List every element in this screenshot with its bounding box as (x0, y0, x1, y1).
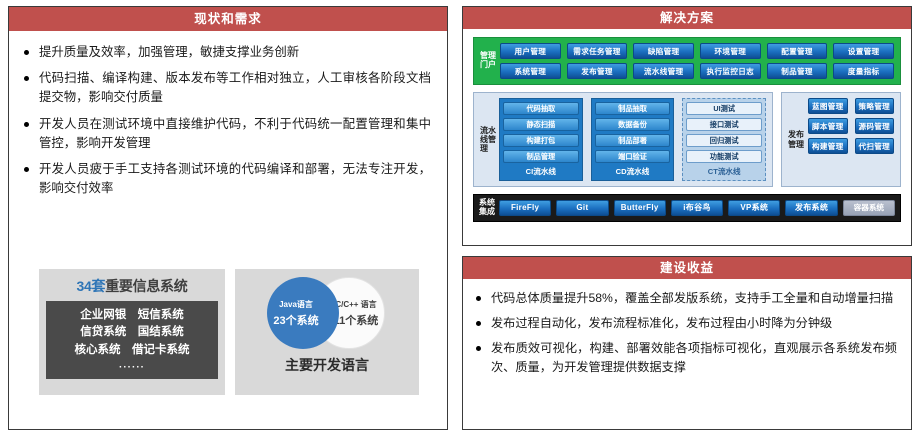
venn-java-value: 23个系统 (273, 312, 318, 328)
list-item: 发布过程自动化，发布流程标准化，发布过程由小时降为分钟级 (475, 314, 897, 333)
pipeline-column-caption: CI流水线 (503, 166, 579, 177)
integration-button[interactable]: VP系统 (728, 200, 780, 216)
pipeline-step[interactable]: 构建打包 (503, 134, 579, 147)
language-venn-card: Java语言 23个系统 C/C++ 语言 11个系统 主要开发语言 (235, 269, 419, 395)
panel-solution-title: 解决方案 (463, 7, 911, 29)
portal-button[interactable]: 执行监控日志 (700, 63, 761, 79)
current-bullet-list: 提升质量及效率，加强管理，敏捷支撑业务创新 代码扫描、编译构建、版本发布等工作相… (9, 31, 447, 199)
systems-card: 34套重要信息系统 企业网银 短信系统 信贷系统 国结系统 核心系统 借记卡系统… (39, 269, 225, 395)
release-management-buttons: 蓝图管理 策略管理 脚本管理 源码管理 构建管理 代扫管理 (808, 98, 894, 181)
release-management-label: 发布管理 (788, 98, 804, 181)
portal-button[interactable]: 度量指标 (833, 63, 894, 79)
pipeline-step[interactable]: 回归测试 (686, 134, 762, 147)
portal-button[interactable]: 配置管理 (767, 43, 828, 59)
system-integration-label: 系统集成 (479, 199, 495, 217)
release-button[interactable]: 蓝图管理 (808, 98, 848, 114)
pipeline-column-ci: 代码抽取 静态扫描 构建打包 制品管理 CI流水线 (499, 98, 583, 181)
integration-button[interactable]: ButterFly (614, 200, 666, 216)
pipeline-management-label-text: 流水线管理 (480, 126, 496, 154)
panel-current-and-needs: 现状和需求 提升质量及效率，加强管理，敏捷支撑业务创新 代码扫描、编译构建、版本… (8, 6, 448, 430)
pipeline-step[interactable]: 代码抽取 (503, 102, 579, 115)
systems-title-rest: 重要信息系统 (105, 278, 187, 294)
portal-button[interactable]: 流水线管理 (633, 63, 694, 79)
pipeline-step[interactable]: UI测试 (686, 102, 762, 115)
system-integration-label-text: 系统集成 (479, 199, 495, 217)
list-item: 代码总体质量提升58%，覆盖全部发版系统，支持手工全量和自动增量扫描 (475, 289, 897, 308)
release-button[interactable]: 构建管理 (808, 138, 848, 154)
venn-diagram: Java语言 23个系统 C/C++ 语言 11个系统 (235, 269, 419, 355)
portal-button[interactable]: 发布管理 (567, 63, 628, 79)
release-management-label-text: 发布管理 (788, 130, 804, 148)
list-item: 开发人员在测试环境中直接维护代码，不利于代码统一配置管理和集中管控，影响开发管理 (23, 115, 431, 153)
benefit-bullet-list: 代码总体质量提升58%，覆盖全部发版系统，支持手工全量和自动增量扫描 发布过程自… (463, 279, 911, 377)
pipeline-step[interactable]: 制品抽取 (595, 102, 671, 115)
pipeline-step[interactable]: 制品部署 (595, 134, 671, 147)
list-item: 核心系统 借记卡系统 (48, 342, 216, 359)
systems-ellipsis: ······ (48, 360, 216, 375)
portal-button[interactable]: 环境管理 (700, 43, 761, 59)
pipeline-management-label: 流水线管理 (480, 98, 496, 181)
pipeline-step[interactable]: 数据备份 (595, 118, 671, 131)
system-integration-buttons: FireFly Git ButterFly i布谷鸟 VP系统 发布系统 容器系… (499, 200, 895, 216)
panel-benefits: 建设收益 代码总体质量提升58%，覆盖全部发版系统，支持手工全量和自动增量扫描 … (462, 256, 912, 430)
portal-button[interactable]: 设置管理 (833, 43, 894, 59)
release-button[interactable]: 代扫管理 (855, 138, 895, 154)
venn-caption: 主要开发语言 (235, 355, 419, 375)
venn-cpp-label: C/C++ 语言 (335, 299, 376, 310)
portal-button[interactable]: 制品管理 (767, 63, 828, 79)
release-management-box: 发布管理 蓝图管理 策略管理 脚本管理 源码管理 构建管理 代扫管理 (781, 92, 901, 187)
release-button[interactable]: 源码管理 (855, 118, 895, 134)
pipeline-management-box: 流水线管理 代码抽取 静态扫描 构建打包 制品管理 CI流水线 制品抽取 数据备… (473, 92, 773, 187)
integration-button-muted[interactable]: 容器系统 (843, 200, 895, 216)
system-integration-band: 系统集成 FireFly Git ButterFly i布谷鸟 VP系统 发布系… (473, 194, 901, 222)
list-item: 代码扫描、编译构建、版本发布等工作相对独立，人工审核各阶段文档提交物，影响交付质… (23, 69, 431, 107)
pipeline-columns: 代码抽取 静态扫描 构建打包 制品管理 CI流水线 制品抽取 数据备份 制品部署… (499, 98, 766, 181)
pipeline-column-cd: 制品抽取 数据备份 制品部署 端口验证 CD流水线 (591, 98, 675, 181)
venn-cpp-value: 11个系统 (334, 312, 379, 328)
portal-button[interactable]: 用户管理 (500, 43, 561, 59)
management-portal-buttons: 用户管理 需求任务管理 缺陷管理 环境管理 配置管理 设置管理 系统管理 发布管… (500, 43, 894, 79)
management-portal-band: 管理门户 用户管理 需求任务管理 缺陷管理 环境管理 配置管理 设置管理 系统管… (473, 37, 901, 85)
panel-solution: 解决方案 管理门户 用户管理 需求任务管理 缺陷管理 环境管理 配置管理 设置管… (462, 6, 912, 246)
list-item: 提升质量及效率，加强管理，敏捷支撑业务创新 (23, 43, 431, 62)
panel-benefits-title: 建设收益 (463, 257, 911, 279)
list-item: 企业网银 短信系统 (48, 307, 216, 324)
venn-circle-java: Java语言 23个系统 (267, 277, 339, 349)
management-portal-label: 管理门户 (480, 43, 496, 79)
list-item: 发布质效可视化，构建、部署效能各项指标可视化，直观展示各系统发布频次、质量，为开… (475, 339, 897, 377)
pipeline-step[interactable]: 静态扫描 (503, 118, 579, 131)
release-button[interactable]: 策略管理 (855, 98, 895, 114)
pipeline-column-caption: CT流水线 (686, 166, 762, 177)
integration-button[interactable]: FireFly (499, 200, 551, 216)
panel-current-title: 现状和需求 (9, 7, 447, 31)
management-portal-label-text: 管理门户 (480, 52, 496, 70)
pipeline-step[interactable]: 接口测试 (686, 118, 762, 131)
pipeline-column-ct: UI测试 接口测试 回归测试 功能测试 CT流水线 (682, 98, 766, 181)
list-item: 开发人员疲于手工支持各测试环境的代码编译和部署，无法专注开发，影响交付效率 (23, 160, 431, 198)
systems-card-title: 34套重要信息系统 (46, 276, 218, 296)
pipeline-step[interactable]: 功能测试 (686, 150, 762, 163)
solution-diagram: 管理门户 用户管理 需求任务管理 缺陷管理 环境管理 配置管理 设置管理 系统管… (463, 29, 911, 245)
release-button[interactable]: 脚本管理 (808, 118, 848, 134)
integration-button[interactable]: 发布系统 (785, 200, 837, 216)
pipeline-column-caption: CD流水线 (595, 166, 671, 177)
integration-button[interactable]: i布谷鸟 (671, 200, 723, 216)
portal-button[interactable]: 缺陷管理 (633, 43, 694, 59)
stats-graphic: 34套重要信息系统 企业网银 短信系统 信贷系统 国结系统 核心系统 借记卡系统… (39, 269, 419, 395)
venn-java-label: Java语言 (279, 299, 313, 310)
portal-button[interactable]: 系统管理 (500, 63, 561, 79)
list-item: 信贷系统 国结系统 (48, 324, 216, 341)
systems-list-box: 企业网银 短信系统 信贷系统 国结系统 核心系统 借记卡系统 ······ (46, 301, 218, 379)
integration-button[interactable]: Git (556, 200, 608, 216)
solution-middle-row: 流水线管理 代码抽取 静态扫描 构建打包 制品管理 CI流水线 制品抽取 数据备… (473, 92, 901, 187)
pipeline-step[interactable]: 制品管理 (503, 150, 579, 163)
portal-button[interactable]: 需求任务管理 (567, 43, 628, 59)
pipeline-step[interactable]: 端口验证 (595, 150, 671, 163)
slide-root: 现状和需求 提升质量及效率，加强管理，敏捷支撑业务创新 代码扫描、编译构建、版本… (0, 0, 919, 436)
systems-count: 34套 (77, 278, 106, 294)
